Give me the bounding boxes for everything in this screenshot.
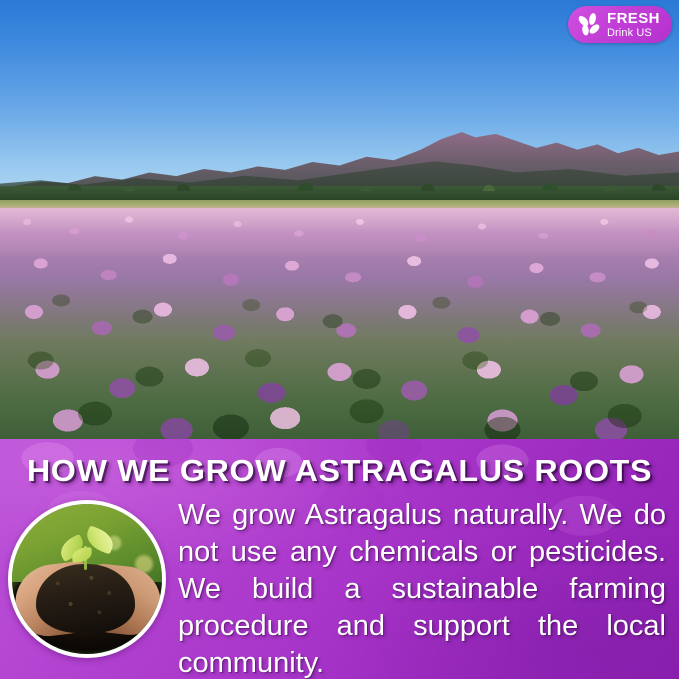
foliage-texture (0, 208, 679, 439)
brand-wordmark: FRESH Drink US (607, 11, 660, 39)
brand-name-secondary: Drink US (607, 28, 660, 39)
flower-field (0, 208, 679, 439)
hero-photo-flower-field: FRESH Drink US (0, 0, 679, 439)
panel-body-text: We grow Astragalus naturally. We do not … (178, 497, 666, 679)
seedling-circle-image (8, 500, 166, 658)
info-panel: HOW WE GROW ASTRAGALUS ROOTS We grow Ast… (0, 439, 679, 679)
brand-logo-badge[interactable]: FRESH Drink US (568, 6, 672, 43)
product-infographic-card: FRESH Drink US HOW WE GROW ASTRAGALUS RO… (0, 0, 679, 679)
panel-headline: HOW WE GROW ASTRAGALUS ROOTS (0, 453, 679, 489)
flower-petals-icon (574, 10, 604, 40)
soil-mound (36, 564, 135, 633)
brand-name-primary: FRESH (607, 11, 660, 26)
